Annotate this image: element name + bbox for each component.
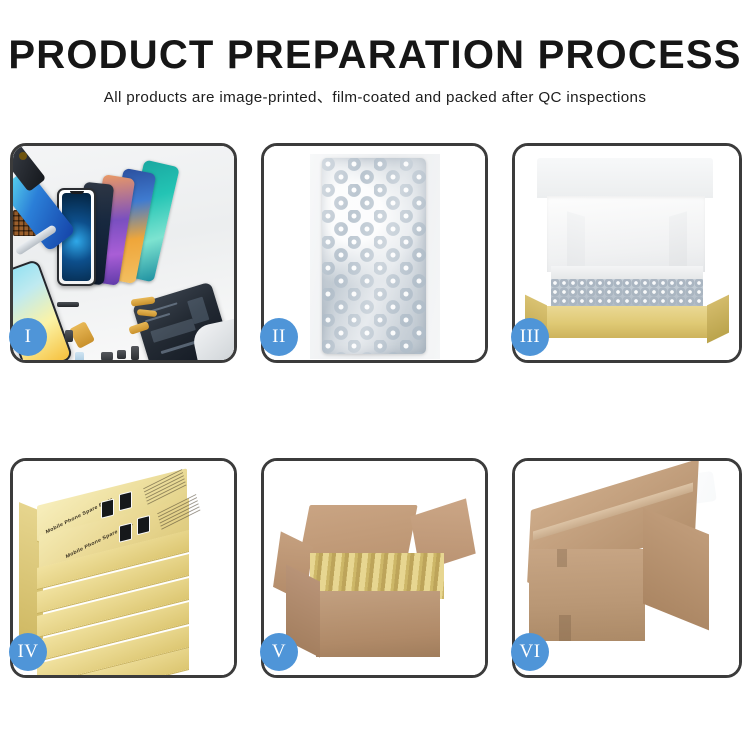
box-label-screen-icon [101, 499, 114, 519]
carton-seam [557, 549, 567, 567]
bubble-wrapped-item-icon [551, 279, 703, 309]
step-panel-iv: Mobile Phone Spare Parts Mobile Phone Sp… [10, 458, 237, 678]
open-carton-illustration [264, 461, 485, 675]
phone-parts-illustration [13, 146, 234, 360]
phone-notch [70, 191, 84, 194]
stacked-boxes-illustration: Mobile Phone Spare Parts Mobile Phone Sp… [13, 461, 234, 675]
sim-tray-part-icon [75, 352, 84, 360]
step-panel-v: V [261, 458, 488, 678]
carton-side-panel [643, 508, 709, 631]
step-image-iii [515, 146, 739, 360]
page-subtitle: All products are image-printed、film-coat… [0, 85, 750, 107]
carton-seam [559, 615, 571, 641]
box-label-screen-icon [119, 523, 132, 543]
step-image-iv: Mobile Phone Spare Parts Mobile Phone Sp… [13, 461, 234, 675]
carton-front-panel [316, 591, 440, 657]
box-label-screen-icon [137, 515, 150, 535]
step-image-v [264, 461, 485, 675]
step-image-vi [515, 461, 739, 675]
bubble-wrap-sheet-icon [322, 158, 426, 354]
step-badge-iv: IV [9, 633, 47, 671]
bubble-wrap-illustration [264, 146, 485, 360]
product-preparation-infographic: PRODUCT PREPARATION PROCESS All products… [0, 0, 750, 750]
carton-front-panel [529, 549, 645, 641]
step-badge-ii: II [260, 318, 298, 356]
step-panel-iii: III [512, 143, 742, 363]
box-lid-back [537, 158, 713, 198]
step-image-ii [264, 146, 485, 360]
sealed-carton-illustration [515, 461, 739, 675]
step-panel-i: I [10, 143, 237, 363]
step-badge-v: V [260, 633, 298, 671]
chip-part-icon [117, 350, 126, 359]
step-badge-iii: III [511, 318, 549, 356]
chip-part-icon [131, 346, 139, 360]
step-badge-vi: VI [511, 633, 549, 671]
page-title: PRODUCT PREPARATION PROCESS [0, 34, 750, 76]
step-panel-vi: VI [512, 458, 742, 678]
battery-part-icon [57, 302, 79, 307]
camera-part-icon [101, 352, 113, 360]
step-badge-i: I [9, 318, 47, 356]
header: PRODUCT PREPARATION PROCESS All products… [0, 0, 750, 107]
box-front-panel [539, 306, 715, 338]
step-panel-ii: II [261, 143, 488, 363]
open-kraft-box-illustration [515, 146, 739, 360]
box-lid-face [547, 196, 705, 272]
box-label-screen-icon [119, 491, 132, 511]
chip-part-icon [65, 330, 73, 342]
step-image-i [13, 146, 234, 360]
steps-grid: I II [10, 143, 742, 678]
